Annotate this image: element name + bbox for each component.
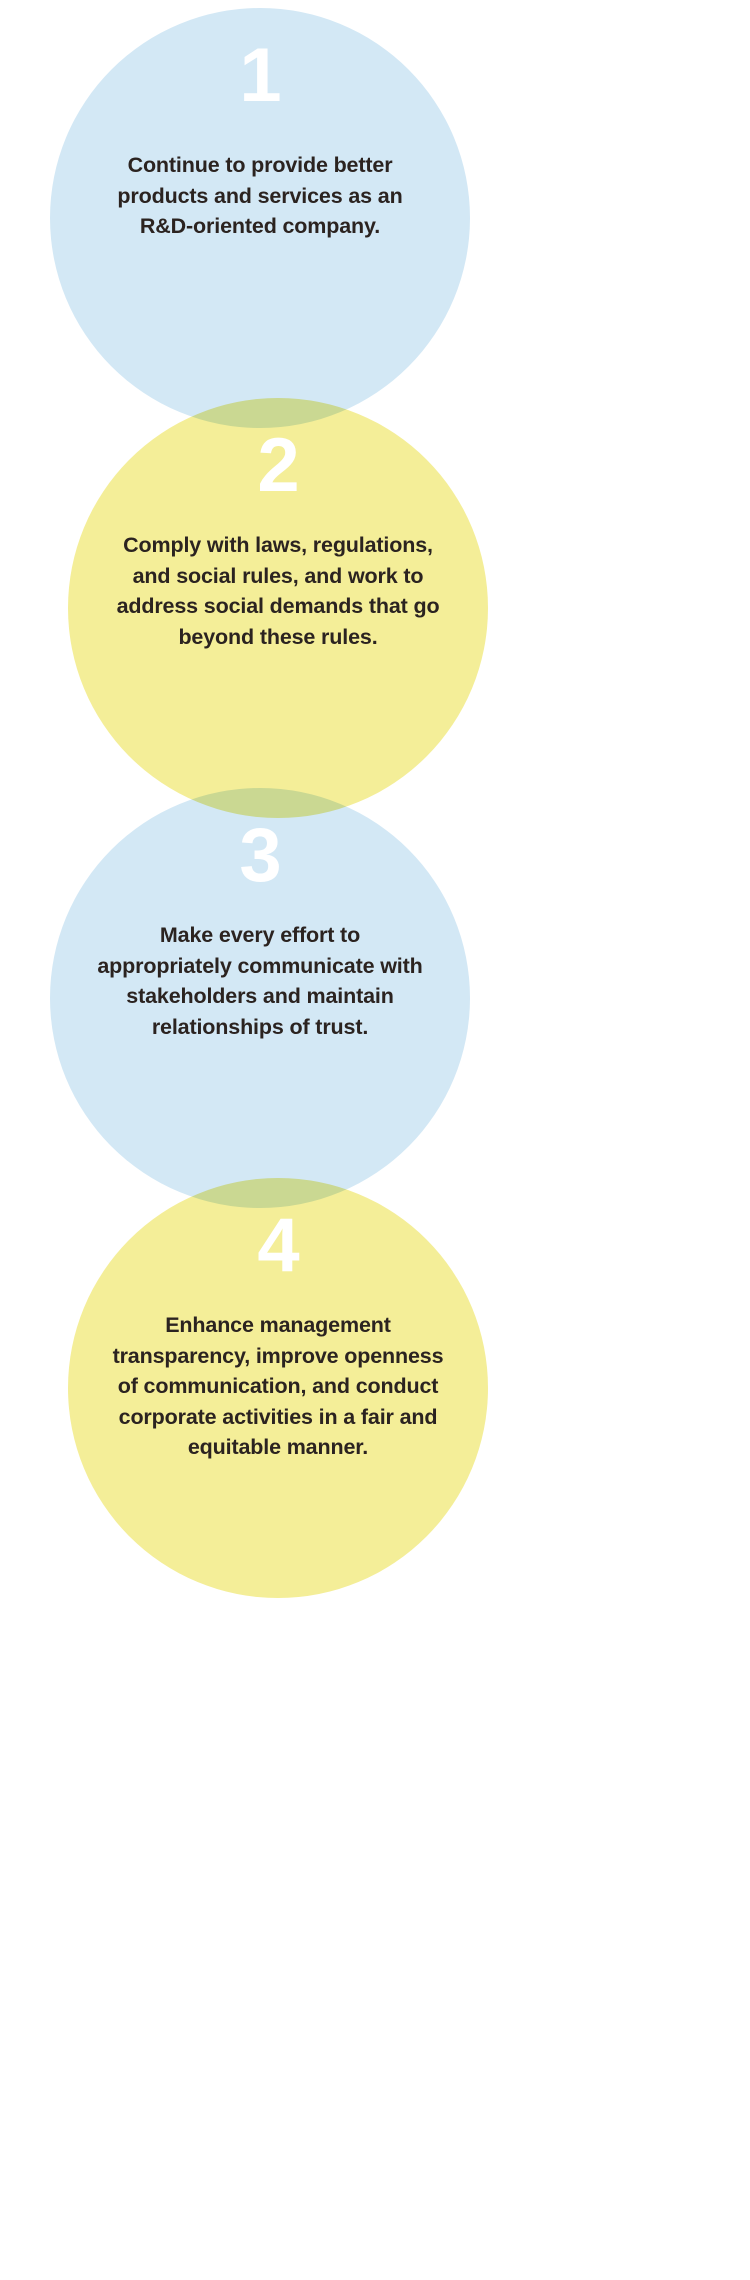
principle-item-4: 4 Enhance management transparency, impro…: [68, 1178, 488, 1463]
principle-item-3: 3 Make every effort to appropriately com…: [50, 788, 470, 1042]
principle-number-4: 4: [68, 1208, 488, 1292]
principle-text-3: Make every effort to appropriately commu…: [50, 920, 470, 1042]
content-layer: 1 Continue to provide better products an…: [0, 0, 750, 2280]
principle-item-1: 1 Continue to provide better products an…: [50, 8, 470, 242]
principle-number-2: 2: [68, 428, 488, 512]
principle-text-4: Enhance management transparency, improve…: [68, 1310, 488, 1463]
principle-item-2: 2 Comply with laws, regulations, and soc…: [68, 398, 488, 652]
principle-number-1: 1: [50, 38, 470, 122]
circles-infographic: 1 Continue to provide better products an…: [0, 0, 750, 2280]
principle-number-3: 3: [50, 818, 470, 902]
principle-text-2: Comply with laws, regulations, and socia…: [68, 530, 488, 652]
principle-text-1: Continue to provide better products and …: [50, 150, 470, 242]
